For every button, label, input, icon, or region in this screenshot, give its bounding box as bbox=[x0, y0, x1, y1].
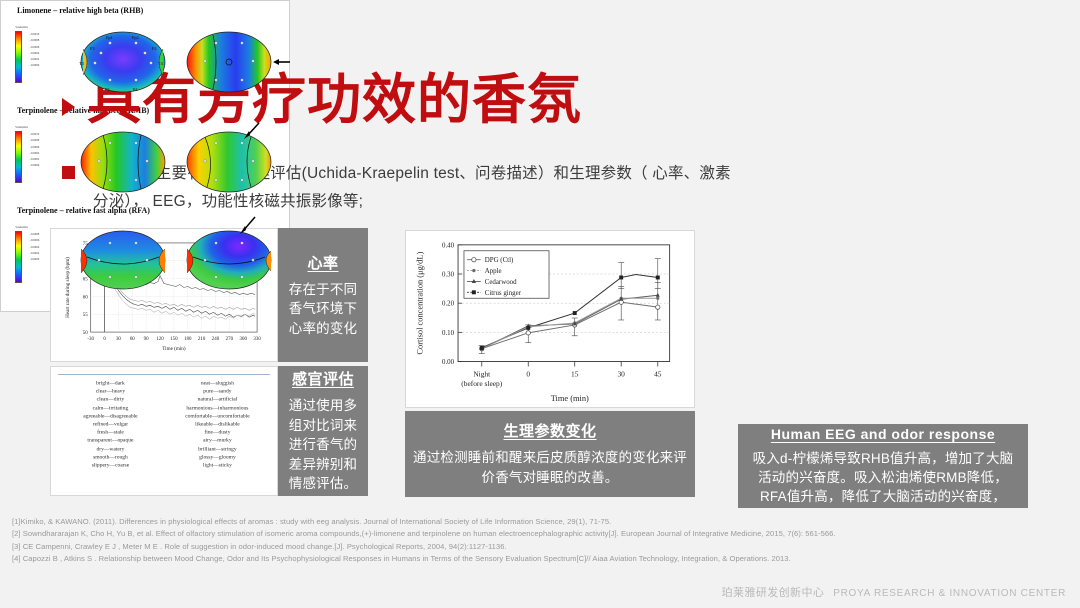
svg-text:50: 50 bbox=[83, 331, 88, 336]
eeg-head-before-rmb bbox=[77, 127, 169, 197]
svg-text:45: 45 bbox=[654, 369, 662, 378]
svg-text:150: 150 bbox=[170, 337, 178, 342]
eeg-scale-caption: %relative bbox=[15, 225, 49, 229]
word-table-rule bbox=[58, 374, 270, 375]
word-table-right-column: neat—sluggish pure—sandy natural—artific… bbox=[166, 379, 269, 469]
svg-text:0.00: 0.00 bbox=[442, 359, 455, 366]
svg-text:Cedarwood: Cedarwood bbox=[485, 279, 517, 286]
electrode-label-t4: T4 bbox=[158, 61, 164, 66]
eeg-colorscale-rhb: %relative –0.0010–0.0008–0.0006–0.0004–0… bbox=[15, 25, 49, 83]
eeg-colorscale-rmb: %relative –0.0010–0.0008–0.0006–0.0004–0… bbox=[15, 125, 49, 183]
eeg-colorbar bbox=[15, 131, 22, 183]
heart-rate-caption-box: 心率 存在于不同香气环境下心率的变化 bbox=[278, 228, 368, 362]
electrode-label-fp2: Fp2 bbox=[132, 35, 139, 40]
eeg-head-before-rhb: Fp1 Fp2 F3 F4 T3 T4 P3 P4 bbox=[77, 27, 169, 97]
sensory-caption-body: 通过使用多组对比词来进行香气的差异辨别和情感评估。 bbox=[286, 396, 360, 494]
hr-x-ticks: -30030 6090120 150180210 240270300 330 bbox=[87, 337, 261, 342]
cort-xlabel: Time (min) bbox=[551, 394, 589, 403]
slide-canvas: 具有芳疗功效的香氛 评价方法主要有感官/心理评估(Uchida-Kraepeli… bbox=[0, 0, 1080, 608]
cort-legend: DPG (Ctl) Apple Cedarwood Citrus ginger bbox=[464, 251, 549, 298]
electrode-label-p3: P3 bbox=[105, 87, 110, 92]
arrow-icon-rmb bbox=[241, 121, 263, 141]
eeg-colorbar-ticks: –0.0008–0.0006–0.0004–0.0002–0.0000 bbox=[29, 231, 39, 262]
svg-text:180: 180 bbox=[184, 337, 192, 342]
reference-item: [1]Kimiko, & KAWANO. (2011). Differences… bbox=[12, 516, 1070, 528]
eeg-caption-body: 吸入d-柠檬烯导致RHB值升高，增加了大脑活动的兴奋度。吸入松油烯使RMB降低，… bbox=[746, 449, 1020, 506]
eeg-caption-box: Human EEG and odor response 吸入d-柠檬烯导致RHB… bbox=[738, 424, 1028, 508]
references-list: [1]Kimiko, & KAWANO. (2011). Differences… bbox=[12, 516, 1070, 565]
footer-brand-cn: 珀莱雅研发创新中心 bbox=[722, 584, 825, 600]
eeg-row-rmb: %relative –0.0010–0.0008–0.0006–0.0004–0… bbox=[1, 115, 289, 201]
cortisol-chart-svg: 0.400.30 0.200.10 0.00 Night(before slee… bbox=[406, 231, 694, 407]
svg-text:15: 15 bbox=[571, 369, 579, 378]
svg-text:Apple: Apple bbox=[485, 268, 502, 275]
eeg-head-during-rhb bbox=[183, 27, 275, 97]
svg-text:210: 210 bbox=[198, 337, 206, 342]
eeg-row-rfa: %relative –0.0008–0.0006–0.0004–0.0002–0… bbox=[1, 215, 289, 301]
electrode-label-f3: F3 bbox=[90, 46, 95, 51]
svg-text:Night: Night bbox=[473, 369, 491, 378]
arrow-icon-rfa bbox=[237, 215, 259, 237]
svg-text:DPG (Ctl): DPG (Ctl) bbox=[485, 257, 514, 264]
footer-branding: 珀莱雅研发创新中心 PROYA RESEARCH & INNOVATION CE… bbox=[722, 584, 1066, 600]
electrode-label-fp1: Fp1 bbox=[106, 35, 113, 40]
word-table-left-column: bright—dark clear—heavy clean—dirty calm… bbox=[59, 379, 162, 469]
eeg-row-rhb: %relative –0.0010–0.0008–0.0006–0.0004–0… bbox=[1, 15, 289, 101]
svg-text:0: 0 bbox=[103, 337, 106, 342]
sensory-word-table-card: bright—dark clear—heavy clean—dirty calm… bbox=[50, 366, 278, 496]
physiology-caption-box: 生理参数变化 通过检测睡前和醒来后皮质醇浓度的变化来评价香气对睡眠的改善。 bbox=[405, 411, 695, 497]
svg-text:0.30: 0.30 bbox=[442, 271, 455, 278]
eeg-colorscale-rfa: %relative –0.0008–0.0006–0.0004–0.0002–0… bbox=[15, 225, 49, 283]
eeg-caption-title: Human EEG and odor response bbox=[771, 426, 995, 442]
electrode-label-t3: T3 bbox=[79, 61, 84, 66]
svg-text:-30: -30 bbox=[87, 337, 94, 342]
cort-ylabel: Cortisol concentration (μg/dL) bbox=[415, 252, 424, 355]
sensory-caption-box: 感官评估 通过使用多组对比词来进行香气的差异辨别和情感评估。 bbox=[278, 366, 368, 496]
svg-text:30: 30 bbox=[617, 369, 625, 378]
eeg-colorbar-ticks: –0.0010–0.0008–0.0006–0.0004–0.0002–0.00… bbox=[29, 31, 39, 69]
svg-text:270: 270 bbox=[226, 337, 234, 342]
physiology-caption-title: 生理参数变化 bbox=[503, 420, 596, 441]
eeg-section-title-rhb: Limonene – relative high beta (RHB) bbox=[17, 6, 289, 15]
eeg-colorbar bbox=[15, 31, 22, 83]
arrow-icon-rhb bbox=[273, 57, 291, 67]
word-pair: light—sticky bbox=[150, 460, 286, 471]
eeg-scale-caption: %relative bbox=[15, 125, 49, 129]
svg-text:55: 55 bbox=[83, 313, 88, 318]
hr-xlabel: Time (min) bbox=[162, 345, 186, 352]
svg-text:Citrus ginger: Citrus ginger bbox=[485, 290, 522, 297]
svg-text:330: 330 bbox=[253, 337, 261, 342]
svg-text:0: 0 bbox=[526, 369, 530, 378]
eeg-head-before-rfa bbox=[77, 227, 169, 293]
heart-rate-caption-body: 存在于不同香气环境下心率的变化 bbox=[286, 280, 360, 339]
reference-item: [4] Capozzi B , Atkins S . Relationship … bbox=[12, 553, 1070, 565]
eeg-colorbar-ticks: –0.0010–0.0008–0.0006–0.0004–0.0002–0.00… bbox=[29, 131, 39, 169]
eeg-scale-caption: %relative bbox=[15, 25, 49, 29]
svg-text:90: 90 bbox=[144, 337, 149, 342]
svg-text:30: 30 bbox=[116, 337, 121, 342]
svg-text:60: 60 bbox=[130, 337, 135, 342]
eeg-head-during-rfa bbox=[183, 227, 275, 293]
footer-brand-en: PROYA RESEARCH & INNOVATION CENTER bbox=[833, 588, 1066, 599]
eeg-panel-card: Limonene – relative high beta (RHB) %rel… bbox=[0, 0, 290, 312]
svg-text:0.40: 0.40 bbox=[442, 242, 455, 249]
heart-rate-caption-title: 心率 bbox=[307, 252, 338, 273]
svg-text:240: 240 bbox=[212, 337, 220, 342]
reference-item: [2] Sowndhararajan K, Cho H, Yu B, et al… bbox=[12, 528, 1070, 540]
svg-text:(before sleep): (before sleep) bbox=[461, 379, 502, 388]
eeg-colorbar bbox=[15, 231, 22, 283]
reference-item: [3] CE Campenni, Crawley E J , Meter M E… bbox=[12, 541, 1070, 553]
physiology-caption-body: 通过检测睡前和醒来后皮质醇浓度的变化来评价香气对睡眠的改善。 bbox=[413, 448, 687, 487]
svg-text:0.10: 0.10 bbox=[442, 330, 455, 337]
svg-text:300: 300 bbox=[240, 337, 248, 342]
cortisol-chart-card: 0.400.30 0.200.10 0.00 Night(before slee… bbox=[405, 230, 695, 408]
svg-text:120: 120 bbox=[156, 337, 164, 342]
svg-text:0.20: 0.20 bbox=[442, 301, 455, 308]
sensory-caption-title: 感官评估 bbox=[292, 368, 354, 389]
